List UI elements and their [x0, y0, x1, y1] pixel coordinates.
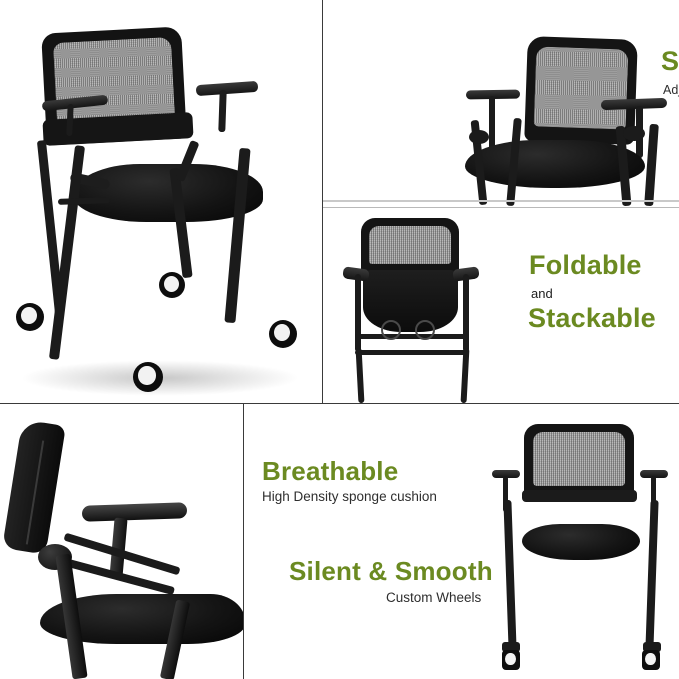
- panel-foldable-stackable: Foldable and Stackable: [323, 208, 679, 403]
- frame-hinge-left: [469, 130, 489, 144]
- caster-rear-right: [269, 320, 297, 348]
- frame-rail-right: [463, 274, 469, 352]
- armrest-post-right: [218, 90, 226, 132]
- stack-hook-right: [415, 320, 435, 340]
- leg-right-rear: [644, 124, 659, 206]
- mesh-backrest: [534, 46, 629, 129]
- frame-rail-left: [355, 274, 361, 352]
- heading-breathable: Breathable: [262, 456, 398, 487]
- divider-horizontal-right-upper: [323, 207, 679, 208]
- panel-main-chair: [0, 0, 322, 403]
- caster-front-right-view: [642, 650, 660, 670]
- panel-side-closeup: [0, 404, 243, 679]
- stack-hook-left: [381, 320, 401, 340]
- heading-sliding-armrest: Sliding Armrest: [661, 46, 679, 77]
- armrest-right: [196, 81, 259, 96]
- frame-hinge-right: [623, 126, 645, 141]
- subheading-sliding-armrest: Adjust as you want: [663, 83, 679, 97]
- heading-foldable: Foldable: [529, 250, 642, 281]
- subheading-breathable: High Density sponge cushion: [262, 489, 437, 504]
- mesh-backrest-folded: [369, 226, 451, 264]
- product-feature-collage: Sliding Armrest Adjust as you want Folda…: [0, 0, 679, 679]
- panel-features-front-view: Breathable High Density sponge cushion S…: [244, 404, 679, 679]
- subheading-silent-smooth: Custom Wheels: [386, 590, 481, 605]
- frame-crossbar-lower: [355, 350, 469, 355]
- caster-front-left: [16, 303, 44, 331]
- seat-cushion-front: [522, 524, 640, 560]
- panel-sliding-armrest: Sliding Armrest Adjust as you want: [323, 0, 679, 207]
- caster-front-right: [133, 362, 163, 392]
- heading-silent-smooth: Silent & Smooth: [289, 556, 493, 587]
- armrest-right-extended: [601, 98, 667, 110]
- seat-underside-folded: [363, 270, 458, 332]
- divider-vertical-bottom: [243, 404, 244, 679]
- backrest-bottom-rail: [522, 490, 637, 502]
- armrest-pad: [82, 502, 187, 522]
- caster-mid: [159, 272, 185, 298]
- frame-crossbar-upper: [355, 334, 469, 339]
- leg-left-folded: [356, 348, 365, 403]
- heading-stackable: Stackable: [528, 303, 656, 334]
- divider-horizontal-main: [0, 403, 679, 404]
- caster-front-left-view: [502, 650, 520, 670]
- mesh-backrest-front: [533, 432, 625, 486]
- leg-right-folded: [461, 348, 470, 403]
- leg-right-front-view: [645, 500, 658, 650]
- leg-left-front-view: [503, 500, 516, 650]
- divider-vertical-top: [322, 0, 323, 403]
- text-and: and: [531, 286, 553, 301]
- floor-line: [323, 200, 679, 202]
